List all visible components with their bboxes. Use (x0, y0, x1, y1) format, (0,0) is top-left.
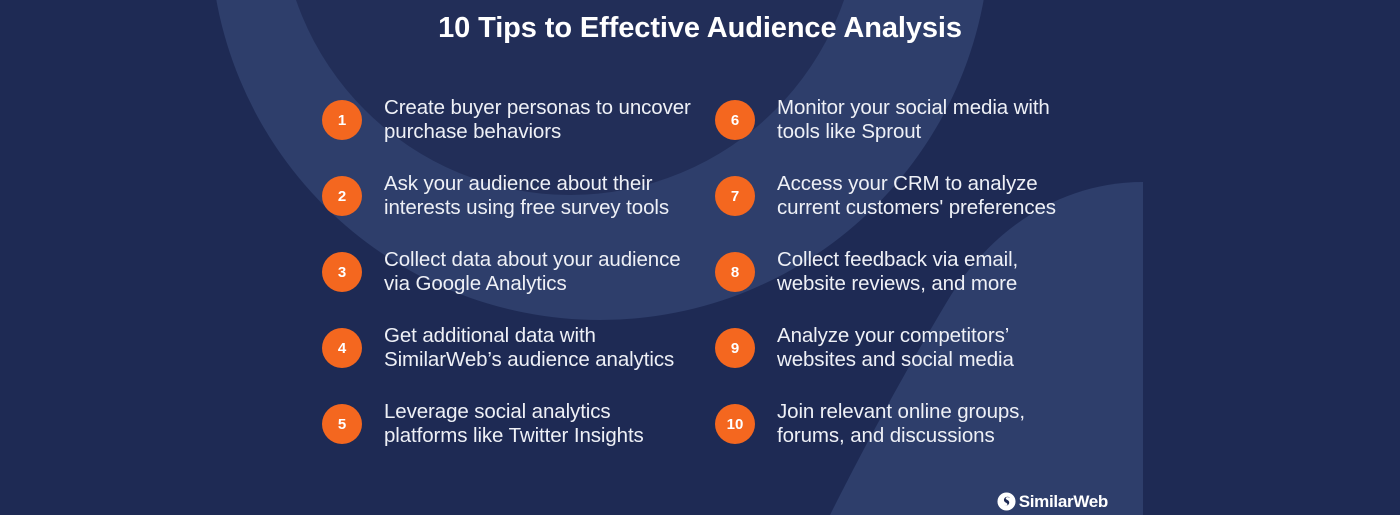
page-title: 10 Tips to Effective Audience Analysis (0, 8, 1400, 48)
tip-item: 5 Leverage social analytics platforms li… (322, 396, 692, 448)
tips-columns: 1 Create buyer personas to uncover purch… (0, 92, 1400, 448)
tip-number-badge: 5 (322, 404, 362, 444)
tip-text: Create buyer personas to uncover purchas… (384, 92, 692, 144)
tip-number-badge: 8 (715, 252, 755, 292)
tips-column-left: 1 Create buyer personas to uncover purch… (322, 92, 692, 448)
tip-item: 9 Analyze your competitors’ websites and… (715, 320, 1085, 372)
tip-number-badge: 2 (322, 176, 362, 216)
tip-number-badge: 3 (322, 252, 362, 292)
tip-text: Leverage social analytics platforms like… (384, 396, 692, 448)
similarweb-logo-text: SimilarWeb (1019, 492, 1108, 511)
tip-item: 10 Join relevant online groups, forums, … (715, 396, 1085, 448)
infographic-canvas: 10 Tips to Effective Audience Analysis 1… (0, 0, 1400, 515)
tip-item: 7 Access your CRM to analyze current cus… (715, 168, 1085, 220)
tip-number-badge: 6 (715, 100, 755, 140)
tip-text: Join relevant online groups, forums, and… (777, 396, 1085, 448)
tip-text: Analyze your competitors’ websites and s… (777, 320, 1085, 372)
tip-text: Monitor your social media with tools lik… (777, 92, 1085, 144)
tip-text: Access your CRM to analyze current custo… (777, 168, 1085, 220)
tip-number-badge: 10 (715, 404, 755, 444)
similarweb-swirl-icon (997, 492, 1016, 511)
tip-number-badge: 7 (715, 176, 755, 216)
tip-number-badge: 9 (715, 328, 755, 368)
tip-item: 4 Get additional data with SimilarWeb’s … (322, 320, 692, 372)
tip-item: 1 Create buyer personas to uncover purch… (322, 92, 692, 144)
tip-text: Collect feedback via email, website revi… (777, 244, 1085, 296)
tip-item: 6 Monitor your social media with tools l… (715, 92, 1085, 144)
tip-number-badge: 4 (322, 328, 362, 368)
tip-item: 3 Collect data about your audience via G… (322, 244, 692, 296)
tip-text: Ask your audience about their interests … (384, 168, 692, 220)
tip-item: 2 Ask your audience about their interest… (322, 168, 692, 220)
tip-item: 8 Collect feedback via email, website re… (715, 244, 1085, 296)
tips-column-right: 6 Monitor your social media with tools l… (715, 92, 1085, 448)
tip-text: Get additional data with SimilarWeb’s au… (384, 320, 692, 372)
similarweb-logo: SimilarWeb (997, 492, 1108, 511)
tip-text: Collect data about your audience via Goo… (384, 244, 692, 296)
tip-number-badge: 1 (322, 100, 362, 140)
